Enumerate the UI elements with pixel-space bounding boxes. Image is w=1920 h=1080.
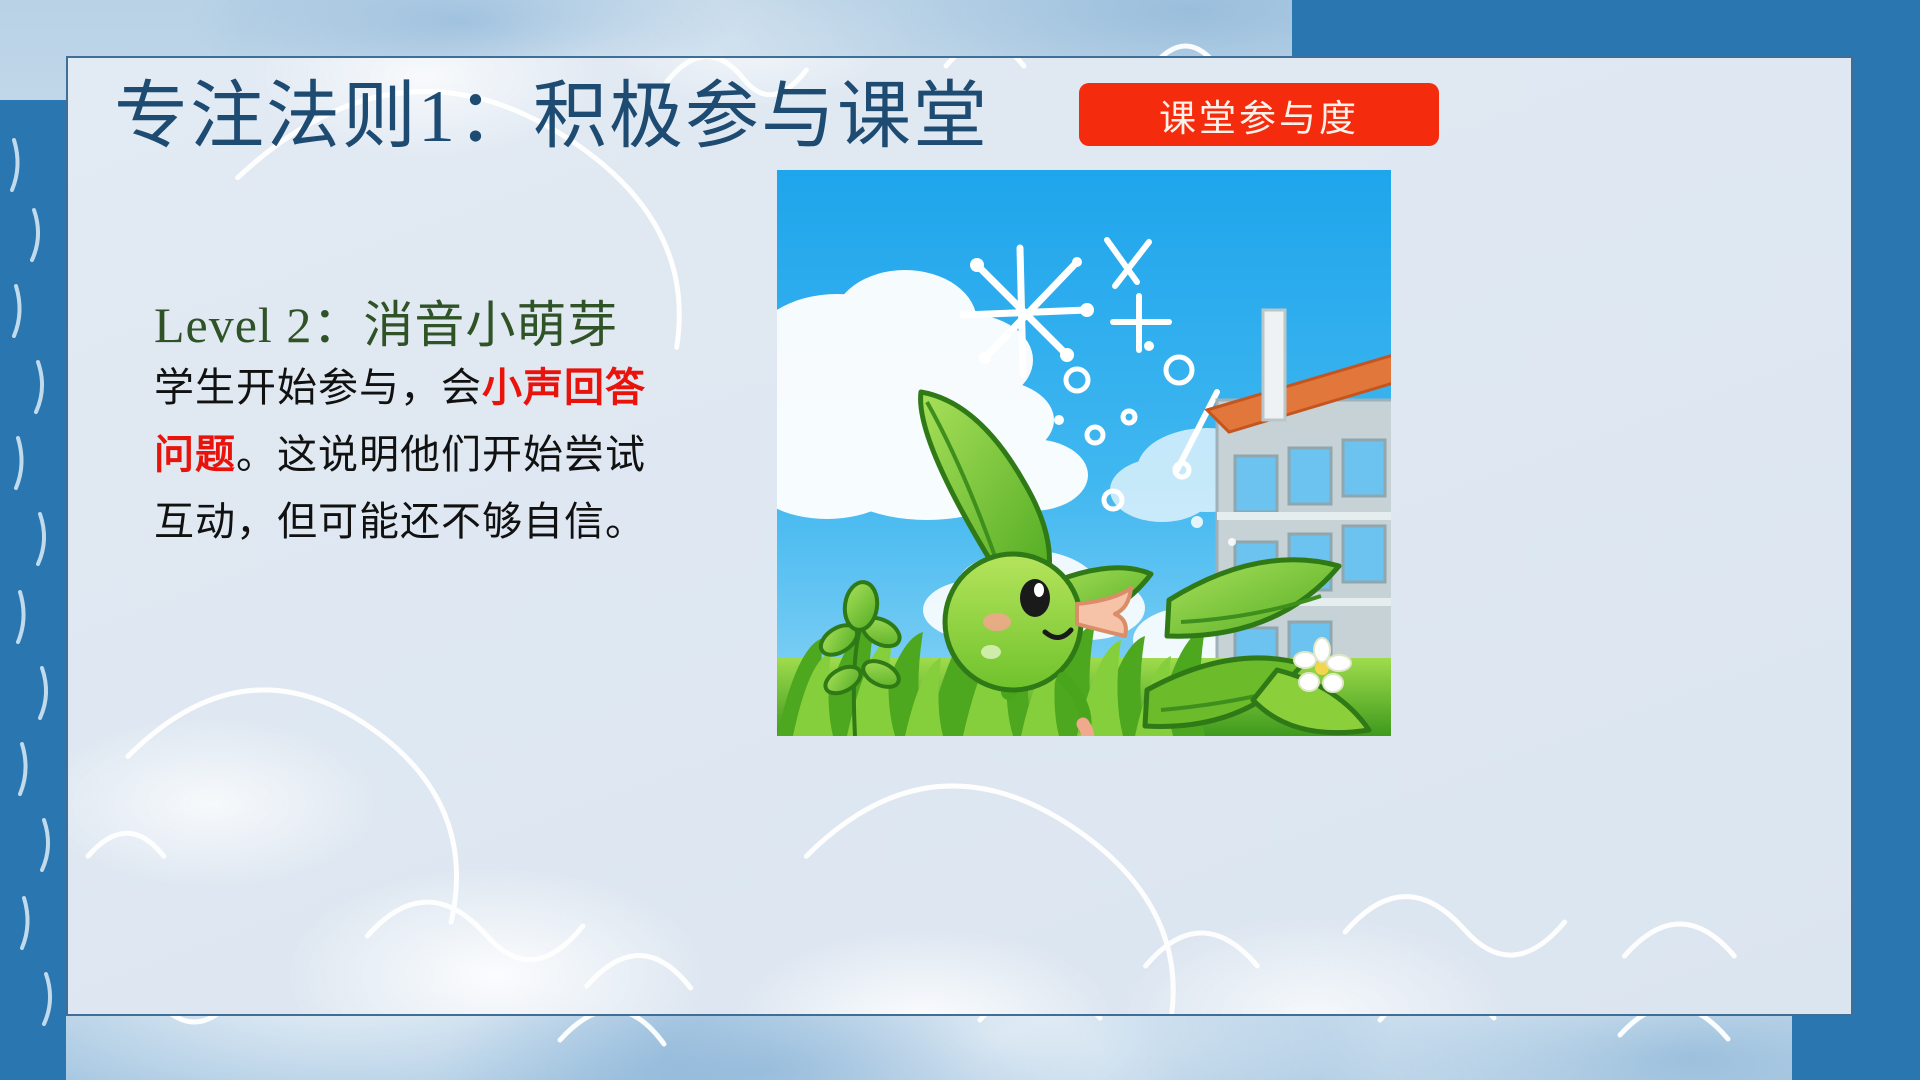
status-badge-label: 课堂参与度 [1159,88,1359,142]
status-badge[interactable]: 课堂参与度 [1079,83,1439,146]
level-heading: Level 2：消音小萌芽 [154,285,618,357]
slide-root: 专注法则1：积极参与课堂 课堂参与度 Level 2：消音小萌芽 学生开始参与，… [0,0,1920,1080]
sprout-mascot-illustration [777,170,1391,736]
frame-bar-left-dashes [0,100,66,1080]
content-panel: 专注法则1：积极参与课堂 课堂参与度 Level 2：消音小萌芽 学生开始参与，… [66,56,1853,1016]
body-paragraph: 学生开始参与，会小声回答问题。这说明他们开始尝试互动，但可能还不够自信。 [154,354,674,555]
body-text-part-1: 学生开始参与，会 [154,365,482,410]
page-title: 专注法则1：积极参与课堂 [114,80,989,154]
